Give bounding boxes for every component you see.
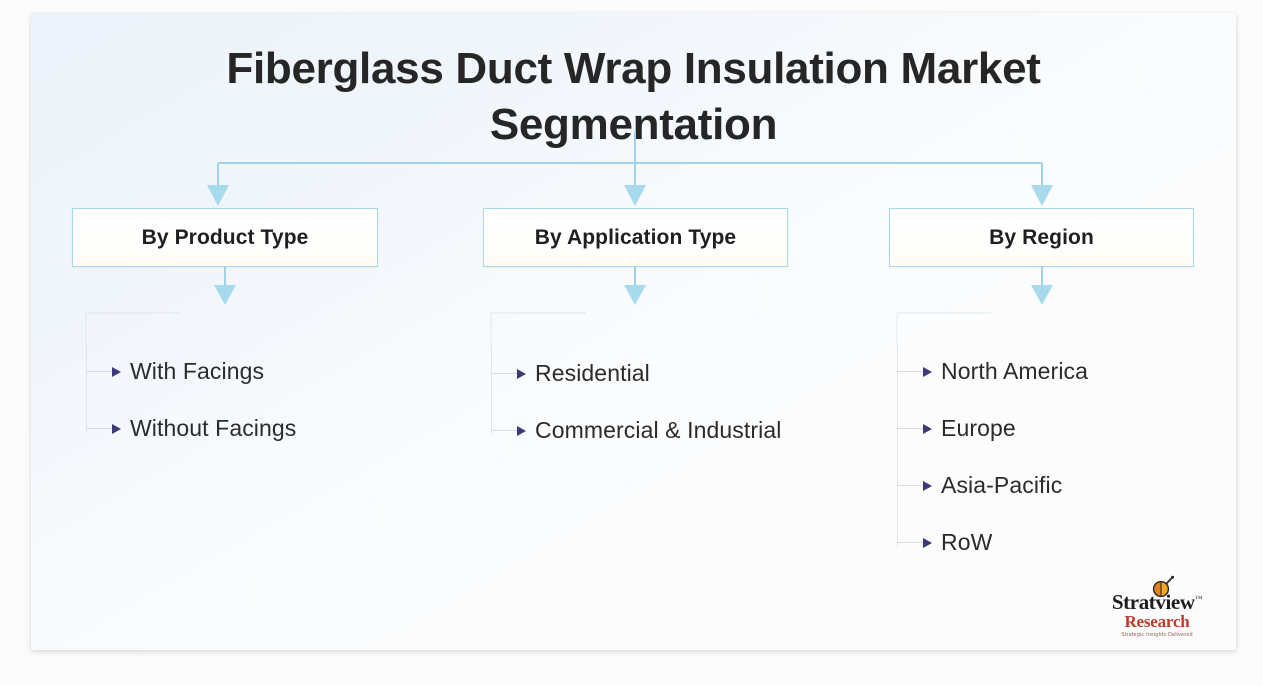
list-item[interactable]: With Facings [86, 343, 296, 400]
list-connector [897, 428, 923, 429]
segment-box-product-type[interactable]: By Product Type [72, 208, 378, 267]
brand-logo: Stratview™ Research Strategic Insights D… [1096, 578, 1218, 638]
list-item-label: Residential [535, 360, 650, 387]
logo-wordmark: Stratview™ [1096, 592, 1218, 613]
segment-box-label: By Product Type [142, 226, 309, 250]
list-connector [491, 430, 517, 431]
list-connector [897, 371, 923, 372]
logo-subword: Research [1096, 613, 1218, 631]
triangle-bullet-icon [112, 424, 121, 434]
list-item-label: With Facings [130, 358, 264, 385]
list-item[interactable]: Without Facings [86, 400, 296, 457]
list-item-label: RoW [941, 529, 992, 556]
segment-box-application-type[interactable]: By Application Type [483, 208, 788, 267]
segment-box-label: By Region [989, 226, 1094, 250]
list-item[interactable]: Residential [491, 345, 781, 402]
list-item[interactable]: Commercial & Industrial [491, 402, 781, 459]
list-item[interactable]: North America [897, 343, 1088, 400]
list-item-label: Europe [941, 415, 1016, 442]
triangle-bullet-icon [923, 367, 932, 377]
triangle-bullet-icon [923, 481, 932, 491]
list-connector [491, 373, 517, 374]
list-item[interactable]: Europe [897, 400, 1088, 457]
trademark-symbol: ™ [1195, 594, 1202, 603]
logo-tagline: Strategic Insights Delivered [1096, 632, 1218, 638]
triangle-bullet-icon [112, 367, 121, 377]
logo-word-text: Stratview [1112, 590, 1195, 614]
list-item-label: Commercial & Industrial [535, 417, 781, 444]
slide-canvas: Fiberglass Duct Wrap Insulation Market S… [31, 13, 1236, 650]
list-connector [897, 542, 923, 543]
segment-box-label: By Application Type [535, 226, 736, 250]
segment-items-product-type: With Facings Without Facings [86, 343, 296, 457]
triangle-bullet-icon [923, 538, 932, 548]
list-item[interactable]: RoW [897, 514, 1088, 571]
list-item-label: North America [941, 358, 1088, 385]
page-title: Fiberglass Duct Wrap Insulation Market S… [91, 41, 1176, 154]
triangle-bullet-icon [923, 424, 932, 434]
list-item-label: Without Facings [130, 415, 296, 442]
list-item[interactable]: Asia-Pacific [897, 457, 1088, 514]
list-connector [897, 485, 923, 486]
triangle-bullet-icon [517, 369, 526, 379]
segment-box-region[interactable]: By Region [889, 208, 1194, 267]
list-item-label: Asia-Pacific [941, 472, 1062, 499]
segment-items-application-type: Residential Commercial & Industrial [491, 345, 781, 459]
segment-items-region: North America Europe Asia-Pacific RoW [897, 343, 1088, 571]
triangle-bullet-icon [517, 426, 526, 436]
list-connector [86, 371, 112, 372]
list-connector [86, 428, 112, 429]
